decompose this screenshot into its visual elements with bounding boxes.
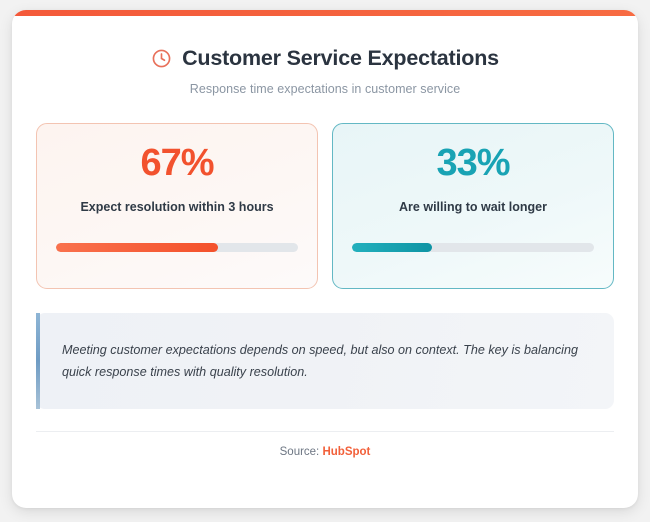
footer-source-name[interactable]: HubSpot (322, 446, 370, 458)
card-content: Customer Service Expectations Response t… (12, 16, 638, 508)
header: Customer Service Expectations Response t… (36, 16, 614, 96)
stat-card-expect-resolution: 67% Expect resolution within 3 hours (36, 123, 318, 289)
footer-source-prefix: Source: (280, 446, 320, 458)
progress-fill (56, 243, 218, 252)
footer-divider (36, 431, 614, 432)
stat-label: Expect resolution within 3 hours (56, 198, 298, 216)
page-subtitle: Response time expectations in customer s… (36, 82, 614, 96)
title-row: Customer Service Expectations (36, 46, 614, 71)
page-title: Customer Service Expectations (182, 46, 499, 71)
quote-block: Meeting customer expectations depends on… (36, 313, 614, 409)
clock-icon (151, 48, 172, 69)
footer: Source: HubSpot (36, 446, 614, 458)
stat-card-willing-to-wait: 33% Are willing to wait longer (332, 123, 614, 289)
stat-label: Are willing to wait longer (352, 198, 594, 216)
stat-value: 33% (352, 144, 594, 182)
progress-track (352, 243, 594, 252)
quote-text: Meeting customer expectations depends on… (62, 339, 588, 383)
stats-row: 67% Expect resolution within 3 hours 33%… (36, 123, 614, 289)
infographic-card: Customer Service Expectations Response t… (12, 10, 638, 508)
stat-value: 67% (56, 144, 298, 182)
progress-track (56, 243, 298, 252)
progress-fill (352, 243, 432, 252)
